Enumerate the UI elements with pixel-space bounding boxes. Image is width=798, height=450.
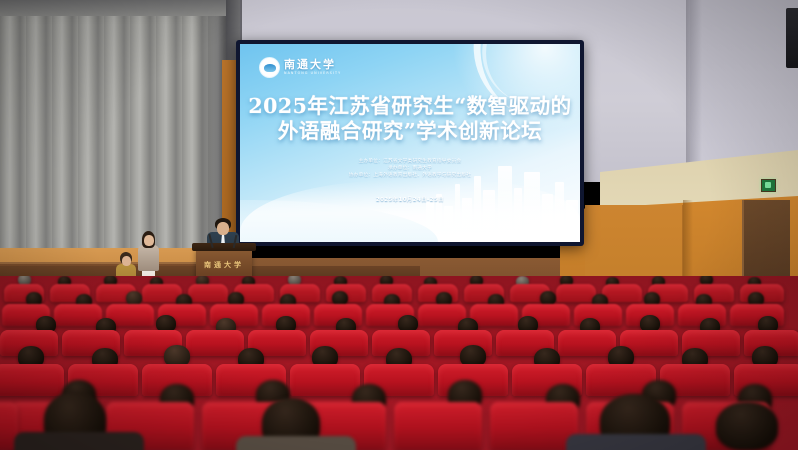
upper-wall-right <box>690 0 798 172</box>
slide-title-line-1: 2025年江苏省研究生“数智驱动的 <box>240 94 580 119</box>
slide-title-line-2: 外语融合研究”学术创新论坛 <box>240 119 580 144</box>
auditorium-photo: 南通大学 NANTONG UNIVERSITY 2025年江苏省研究生“数智驱动… <box>0 0 798 450</box>
sponsor-line-2: 承办单位：南通大学 <box>240 165 580 172</box>
led-screen: 南通大学 NANTONG UNIVERSITY 2025年江苏省研究生“数智驱动… <box>240 44 580 242</box>
university-name-en: NANTONG UNIVERSITY <box>284 72 341 75</box>
wall-corner-shadow <box>686 0 702 178</box>
slide-sponsors: 主办单位：江苏省文学类研究生教育指导委员会 承办单位：南通大学 协办单位：上海外… <box>240 158 580 179</box>
led-screen-bezel: 南通大学 NANTONG UNIVERSITY 2025年江苏省研究生“数智驱动… <box>236 40 584 246</box>
sponsor-line-1: 主办单位：江苏省文学类研究生教育指导委员会 <box>240 158 580 165</box>
podium-top <box>192 243 256 251</box>
exit-sign-icon <box>761 179 776 192</box>
sponsor-line-3: 协办单位：上海外语教育出版社、外语教学与研究出版社 <box>240 172 580 179</box>
university-name-cn: 南通大学 <box>284 59 341 70</box>
curtain-rail <box>0 0 232 16</box>
slide-title: 2025年江苏省研究生“数智驱动的 外语融合研究”学术创新论坛 <box>240 94 580 144</box>
seated-audience <box>0 276 798 450</box>
slide-date: 2025年10月24日-25日 <box>240 196 580 203</box>
wall-speaker-icon <box>786 8 798 68</box>
university-logo: 南通大学 NANTONG UNIVERSITY <box>260 58 341 77</box>
university-emblem-icon <box>260 58 279 77</box>
podium-university-name: 南通大学 <box>196 260 252 270</box>
